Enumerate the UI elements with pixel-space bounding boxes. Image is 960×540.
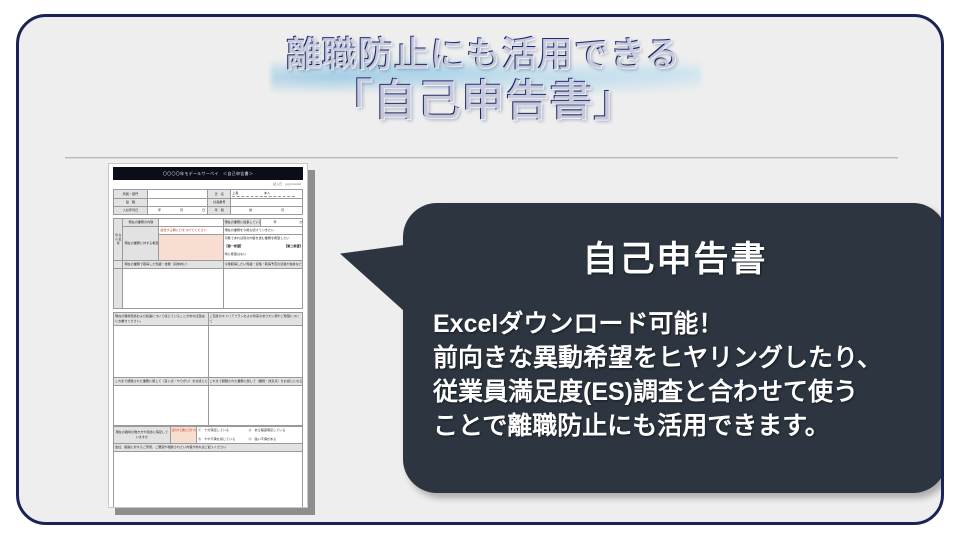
duty-wish-opt3: 特に希望はない bbox=[225, 252, 301, 257]
table-row: 会社、組織に対するご意見、ご要望や相談されたい内容があればご記入ください bbox=[114, 444, 303, 452]
cell-env-left-input bbox=[114, 326, 209, 378]
cell-satisfaction-options: ① 十分満足している ② ある程度満足している ③ やや不満を感じている ④ 強… bbox=[197, 427, 303, 444]
cell-exp-right-label: これまで経験された業務に関して（課題・改善点）をお感じになる部分 bbox=[208, 378, 303, 386]
bubble-body-line-1: Excelダウンロード可能！ bbox=[433, 307, 943, 341]
cell-duty-wish-note: 該当する欄に〇をつけてください bbox=[159, 227, 223, 235]
document-meta: 記入日 yyyy/mm/dd bbox=[113, 182, 301, 187]
cell-section-vertical-label: 現 在 の 業 務 bbox=[114, 219, 123, 261]
document-thumbnail[interactable]: 〇〇〇〇年モデールサーベイ ＜自己申告書＞ 記入日 yyyy/mm/dd 所属・… bbox=[108, 163, 308, 508]
title-line-2: 「自己申告書」 bbox=[19, 75, 944, 127]
duty-wish-sub2: 【第二希望】 bbox=[284, 244, 302, 248]
cell-sign2: 本人 bbox=[264, 191, 295, 197]
cell-duty-wish-options: 可能であれば別の内容を含む業務を希望したい 【第一希望】 【第二希望】 特に希望… bbox=[223, 235, 302, 261]
table-row: これまで経験された業務に関して（良い点・やりがい）をお感じになる部分 これまで経… bbox=[114, 378, 303, 386]
cell-current-duty-label: 現在の業務の内容 bbox=[123, 219, 159, 227]
table-row bbox=[114, 452, 303, 509]
cell-opinion-label: 会社、組織に対するご意見、ご要望や相談されたい内容があればご記入ください bbox=[114, 444, 303, 452]
cell-vert-spacer2 bbox=[114, 269, 123, 309]
cell-duration-value: 年 か月 bbox=[261, 219, 303, 227]
hiredate-month: 月 bbox=[180, 208, 183, 212]
cell-satisfaction-input: 該当する欄に〇をつけてください bbox=[170, 427, 196, 444]
cell-current-duty-value bbox=[159, 219, 223, 227]
cell-dept-value bbox=[148, 190, 208, 199]
cell-vert-spacer bbox=[114, 261, 123, 269]
satisfaction-opt2: ② ある程度満足している bbox=[248, 428, 297, 433]
age-years: 歳 bbox=[249, 208, 252, 212]
hiredate-year: 年 bbox=[158, 208, 161, 212]
cell-skills-right-label: 今後取得したい知識・資格・取得予定の資格や免許などについて（具体的に） bbox=[223, 261, 302, 269]
table-row bbox=[114, 386, 303, 426]
satisfaction-opt4: ④ 強い不満がある bbox=[248, 437, 297, 442]
cell-duty-wish-input bbox=[159, 235, 223, 261]
table-row: 現在の職場の働き方や環境に満足していますか 該当する欄に〇をつけてください ① … bbox=[114, 427, 303, 444]
horizontal-divider bbox=[65, 157, 898, 159]
cell-opinion-input bbox=[114, 452, 303, 509]
cell-hiredate-value: 年 月 日 bbox=[148, 207, 208, 215]
cell-position-label: 役 職 bbox=[114, 199, 148, 207]
table-row: 現 在 の 業 務 現在の業務の内容 現在の業務に従事している期間 年 か月 bbox=[114, 219, 303, 227]
cell-age-value: 歳 月 bbox=[231, 207, 303, 215]
duty-wish-sub1: 【第一希望】 bbox=[225, 244, 244, 248]
table-row: 現在の業務で取得した知識・技能（具体的に） 今後取得したい知識・資格・取得予定の… bbox=[114, 261, 303, 269]
cell-sign-area: 上長 本人 bbox=[231, 190, 303, 199]
document-title-band: 〇〇〇〇年モデールサーベイ ＜自己申告書＞ bbox=[113, 167, 303, 180]
bubble-heading: 自己申告書 bbox=[403, 231, 944, 282]
document-body-table-2: 現在の職場環境および処遇について感じていることがあれば自由にお書きください。 ご… bbox=[113, 312, 303, 426]
table-row bbox=[114, 326, 303, 378]
cell-duty-wish-label: 現在の業務に対する希望 bbox=[123, 227, 159, 261]
cell-satisfaction-label: 現在の職場の働き方や環境に満足していますか bbox=[114, 427, 171, 444]
document-page: 〇〇〇〇年モデールサーベイ ＜自己申告書＞ 記入日 yyyy/mm/dd 所属・… bbox=[108, 163, 308, 508]
satisfaction-option-row-2: ③ やや不満を感じている ④ 強い不満がある bbox=[198, 437, 301, 442]
bubble-body-line-3: 従業員満足度(ES)調査と合わせて使う bbox=[433, 375, 943, 409]
duration-years: 年 bbox=[273, 220, 276, 224]
cell-sign1: 上長 bbox=[232, 191, 263, 197]
cell-exp-left-label: これまで経験された業務に関して（良い点・やりがい）をお感じになる部分 bbox=[114, 378, 209, 386]
cell-duration-label: 現在の業務に従事している期間 bbox=[223, 219, 261, 227]
table-row: 役 職 社員番号 bbox=[114, 199, 303, 207]
slide-card: 離職防止にも活用できる 「自己申告書」 〇〇〇〇年モデールサーベイ ＜自己申告書… bbox=[16, 14, 944, 525]
document-body-table: 現 在 の 業 務 現在の業務の内容 現在の業務に従事している期間 年 か月 現… bbox=[113, 218, 303, 309]
bubble-body-line-2: 前向きな異動希望をヒヤリングしたり、 bbox=[433, 341, 943, 375]
satisfaction-opt1: ① 十分満足している bbox=[198, 428, 247, 433]
page-title: 離職防止にも活用できる 「自己申告書」 bbox=[19, 33, 944, 127]
age-months: 月 bbox=[281, 208, 284, 212]
cell-age-label: 年 齢 bbox=[208, 207, 231, 215]
speech-bubble-tail bbox=[340, 245, 404, 311]
cell-empno-value bbox=[231, 199, 303, 207]
duty-wish-opt2: 可能であれば別の内容を含む業務を希望したい bbox=[225, 236, 301, 241]
cell-env-right-input bbox=[208, 326, 303, 378]
hiredate-day: 日 bbox=[202, 208, 205, 212]
duty-wish-note-text: 該当する欄に〇をつけてください bbox=[160, 228, 206, 232]
cell-exp-left-input bbox=[114, 386, 209, 426]
cell-env-left-label: 現在の職場環境および処遇について感じていることがあれば自由にお書きください。 bbox=[114, 313, 209, 326]
cell-skills-right-input bbox=[223, 269, 302, 309]
table-row: 現在の職場環境および処遇について感じていることがあれば自由にお書きください。 ご… bbox=[114, 313, 303, 326]
cell-empno-label: 社員番号 bbox=[208, 199, 231, 207]
table-row: 現在の業務に対する希望 該当する欄に〇をつけてください 現在の業務を今後も続けて… bbox=[114, 227, 303, 235]
cell-skills-left-label: 現在の業務で取得した知識・技能（具体的に） bbox=[123, 261, 223, 269]
satisfaction-option-row-1: ① 十分満足している ② ある程度満足している bbox=[198, 428, 301, 433]
table-row: 所属・部門 氏 名 上長 本人 bbox=[114, 190, 303, 199]
bubble-body-line-4: ことで離職防止にも活用できます。 bbox=[433, 409, 943, 443]
satisfaction-opt3: ③ やや不満を感じている bbox=[198, 437, 247, 442]
table-row bbox=[114, 269, 303, 309]
cell-position-value bbox=[148, 199, 208, 207]
title-line-1: 離職防止にも活用できる bbox=[19, 33, 944, 77]
satisfaction-note: 該当する欄に〇をつけてください bbox=[172, 429, 197, 432]
cell-duty-wish-opt1: 現在の業務を今後も続けていきたい bbox=[223, 227, 302, 235]
cell-name-label: 氏 名 bbox=[208, 190, 231, 199]
cell-skills-left-input bbox=[123, 269, 223, 309]
document-satisfaction-table: 現在の職場の働き方や環境に満足していますか 該当する欄に〇をつけてください ① … bbox=[113, 426, 303, 508]
document-header-table: 所属・部門 氏 名 上長 本人 役 職 社員番号 入社年月日 bbox=[113, 189, 303, 215]
cell-hiredate-label: 入社年月日 bbox=[114, 207, 148, 215]
cell-env-right-label: ご自身のキャリアプランおよび将来のありたい姿やご希望について bbox=[208, 313, 303, 326]
speech-bubble: 自己申告書 Excelダウンロード可能！ 前向きな異動希望をヒヤリングしたり、 … bbox=[403, 203, 944, 493]
table-row: 入社年月日 年 月 日 年 齢 歳 月 bbox=[114, 207, 303, 215]
cell-exp-right-input bbox=[208, 386, 303, 426]
cell-dept-label: 所属・部門 bbox=[114, 190, 148, 199]
duration-months: か月 bbox=[299, 220, 302, 224]
bubble-body: Excelダウンロード可能！ 前向きな異動希望をヒヤリングしたり、 従業員満足度… bbox=[433, 307, 943, 443]
